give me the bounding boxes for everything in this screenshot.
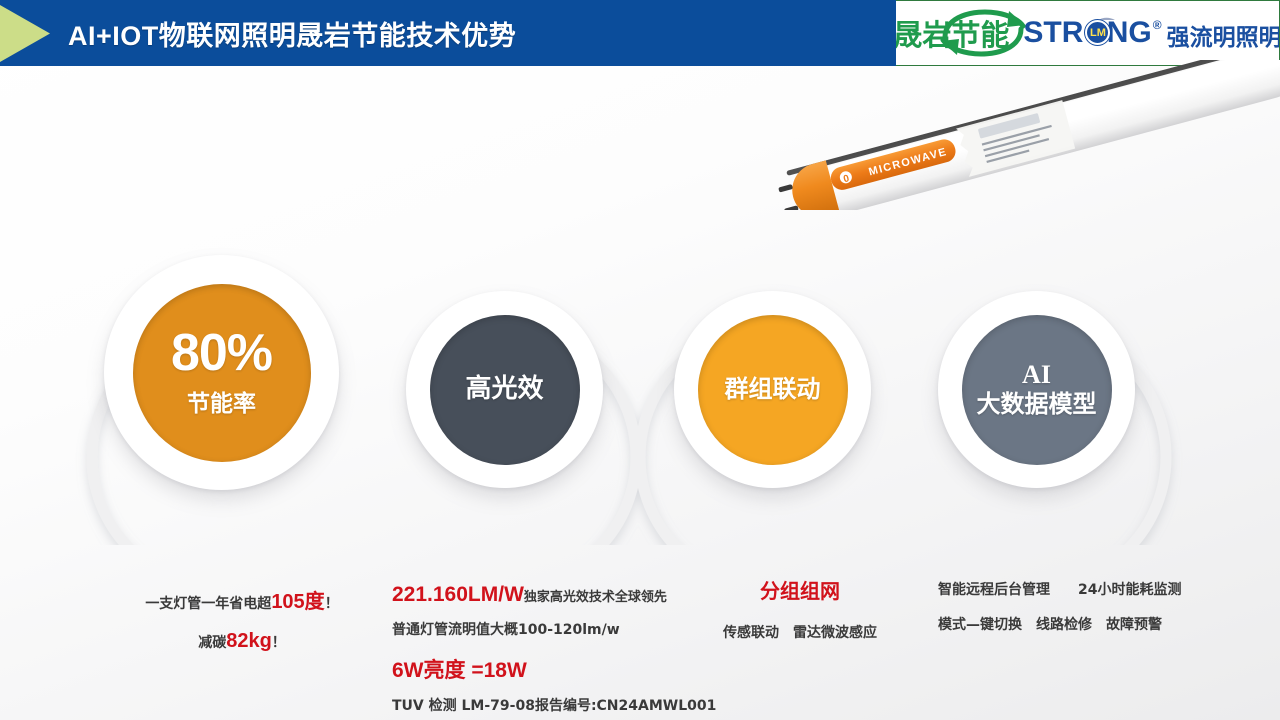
feature-chain: 80% 节能率 高光效 群组联动 AI 大数据模型 xyxy=(0,215,1280,545)
caption-text: 模式—键切换 线路检修 故障预警 xyxy=(938,617,1162,633)
caption-line: TUV 检测 LM-79-08报告编号:CN24AMWL001 xyxy=(392,694,702,717)
feature-disc-high-efficacy: 高光效 xyxy=(430,315,580,465)
feature-node-high-efficacy[interactable]: 高光效 xyxy=(406,291,603,488)
caption-group-linkage: 分组组网传感联动 雷达微波感应 xyxy=(700,578,900,658)
feature-disc-energy-saving: 80% 节能率 xyxy=(133,284,311,462)
feature-label-ai-big-data: 大数据模型 xyxy=(977,390,1097,418)
brand-strong-group: STRONG LM ® xyxy=(1023,16,1161,50)
caption-text: 105度 xyxy=(271,591,324,613)
caption-line: 分组组网 xyxy=(700,578,900,607)
brand-logo-panel: 晟岩节能 STRONG LM ® 强流明照明 xyxy=(896,0,1280,66)
feature-node-group-linkage[interactable]: 群组联动 xyxy=(674,291,871,488)
caption-text: ！ xyxy=(272,635,286,651)
caption-text: 智能远程后台管理 24小时能耗监测 xyxy=(938,582,1181,598)
feature-node-ai-big-data[interactable]: AI 大数据模型 xyxy=(938,291,1135,488)
caption-text: 221.160LM/W xyxy=(392,583,524,606)
caption-line: 模式—键切换 线路检修 故障预警 xyxy=(938,613,1218,636)
caption-text: 6W亮度 =18W xyxy=(392,659,527,682)
caption-ai-big-data: 智能远程后台管理 24小时能耗监测模式—键切换 线路检修 故障预警 xyxy=(938,578,1218,648)
feature-value-ai-big-data: AI xyxy=(1022,361,1051,390)
brand-tagline-cn: 强流明照明 xyxy=(1167,18,1280,52)
feature-node-energy-saving[interactable]: 80% 节能率 xyxy=(104,255,339,490)
feature-label-high-efficacy: 高光效 xyxy=(465,374,543,405)
caption-energy-saving: 一支灯管一年省电超105度！减碳82kg！ xyxy=(112,588,372,666)
fan-rays-icon xyxy=(1081,4,1115,20)
caption-text: 普通灯管流明值大概100-120lm/w xyxy=(392,622,620,638)
caption-text: 82kg xyxy=(226,630,272,652)
caption-text: 一支灯管一年省电超 xyxy=(145,596,271,612)
caption-line: 6W亮度 =18W xyxy=(392,656,702,686)
caption-line: 普通灯管流明值大概100-120lm/w xyxy=(392,618,702,641)
lamp-tube-photo: 0 MICROWAVE xyxy=(755,60,1280,210)
svg-text:0: 0 xyxy=(842,173,851,185)
caption-text: ！ xyxy=(325,596,339,612)
caption-text: 独家高光效技术全球领先 xyxy=(524,590,667,605)
caption-text: 传感联动 雷达微波感应 xyxy=(723,625,877,641)
caption-text: 分组组网 xyxy=(760,581,840,603)
caption-line: 智能远程后台管理 24小时能耗监测 xyxy=(938,578,1218,601)
svg-text:MICROWAVE: MICROWAVE xyxy=(867,146,948,179)
caption-line: 一支灯管一年省电超105度！ xyxy=(112,588,372,617)
caption-text: 减碳 xyxy=(198,635,226,651)
page-title: AI+IOT物联网照明晟岩节能技术优势 xyxy=(68,0,516,66)
caption-high-efficacy: 221.160LM/W独家高光效技术全球领先普通灯管流明值大概100-120lm… xyxy=(392,580,702,720)
caption-line: 减碳82kg！ xyxy=(112,627,372,656)
feature-disc-ai-big-data: AI 大数据模型 xyxy=(962,315,1112,465)
caption-line: 221.160LM/W独家高光效技术全球领先 xyxy=(392,580,702,610)
brand-name-cn: 晟岩节能 xyxy=(896,12,1009,54)
caption-line: 传感联动 雷达微波感应 xyxy=(700,621,900,644)
feature-disc-group-linkage: 群组联动 xyxy=(698,315,848,465)
brand-logo: 晟岩节能 STRONG LM ® 强流明照明 xyxy=(896,12,1280,54)
caption-text: TUV 检测 LM-79-08报告编号:CN24AMWL001 xyxy=(392,698,716,714)
feature-label-group-linkage: 群组联动 xyxy=(725,375,821,403)
feature-value-energy-saving: 80% xyxy=(171,327,272,379)
feature-sublabel-energy-saving: 节能率 xyxy=(187,384,256,418)
registered-mark: ® xyxy=(1153,18,1162,32)
